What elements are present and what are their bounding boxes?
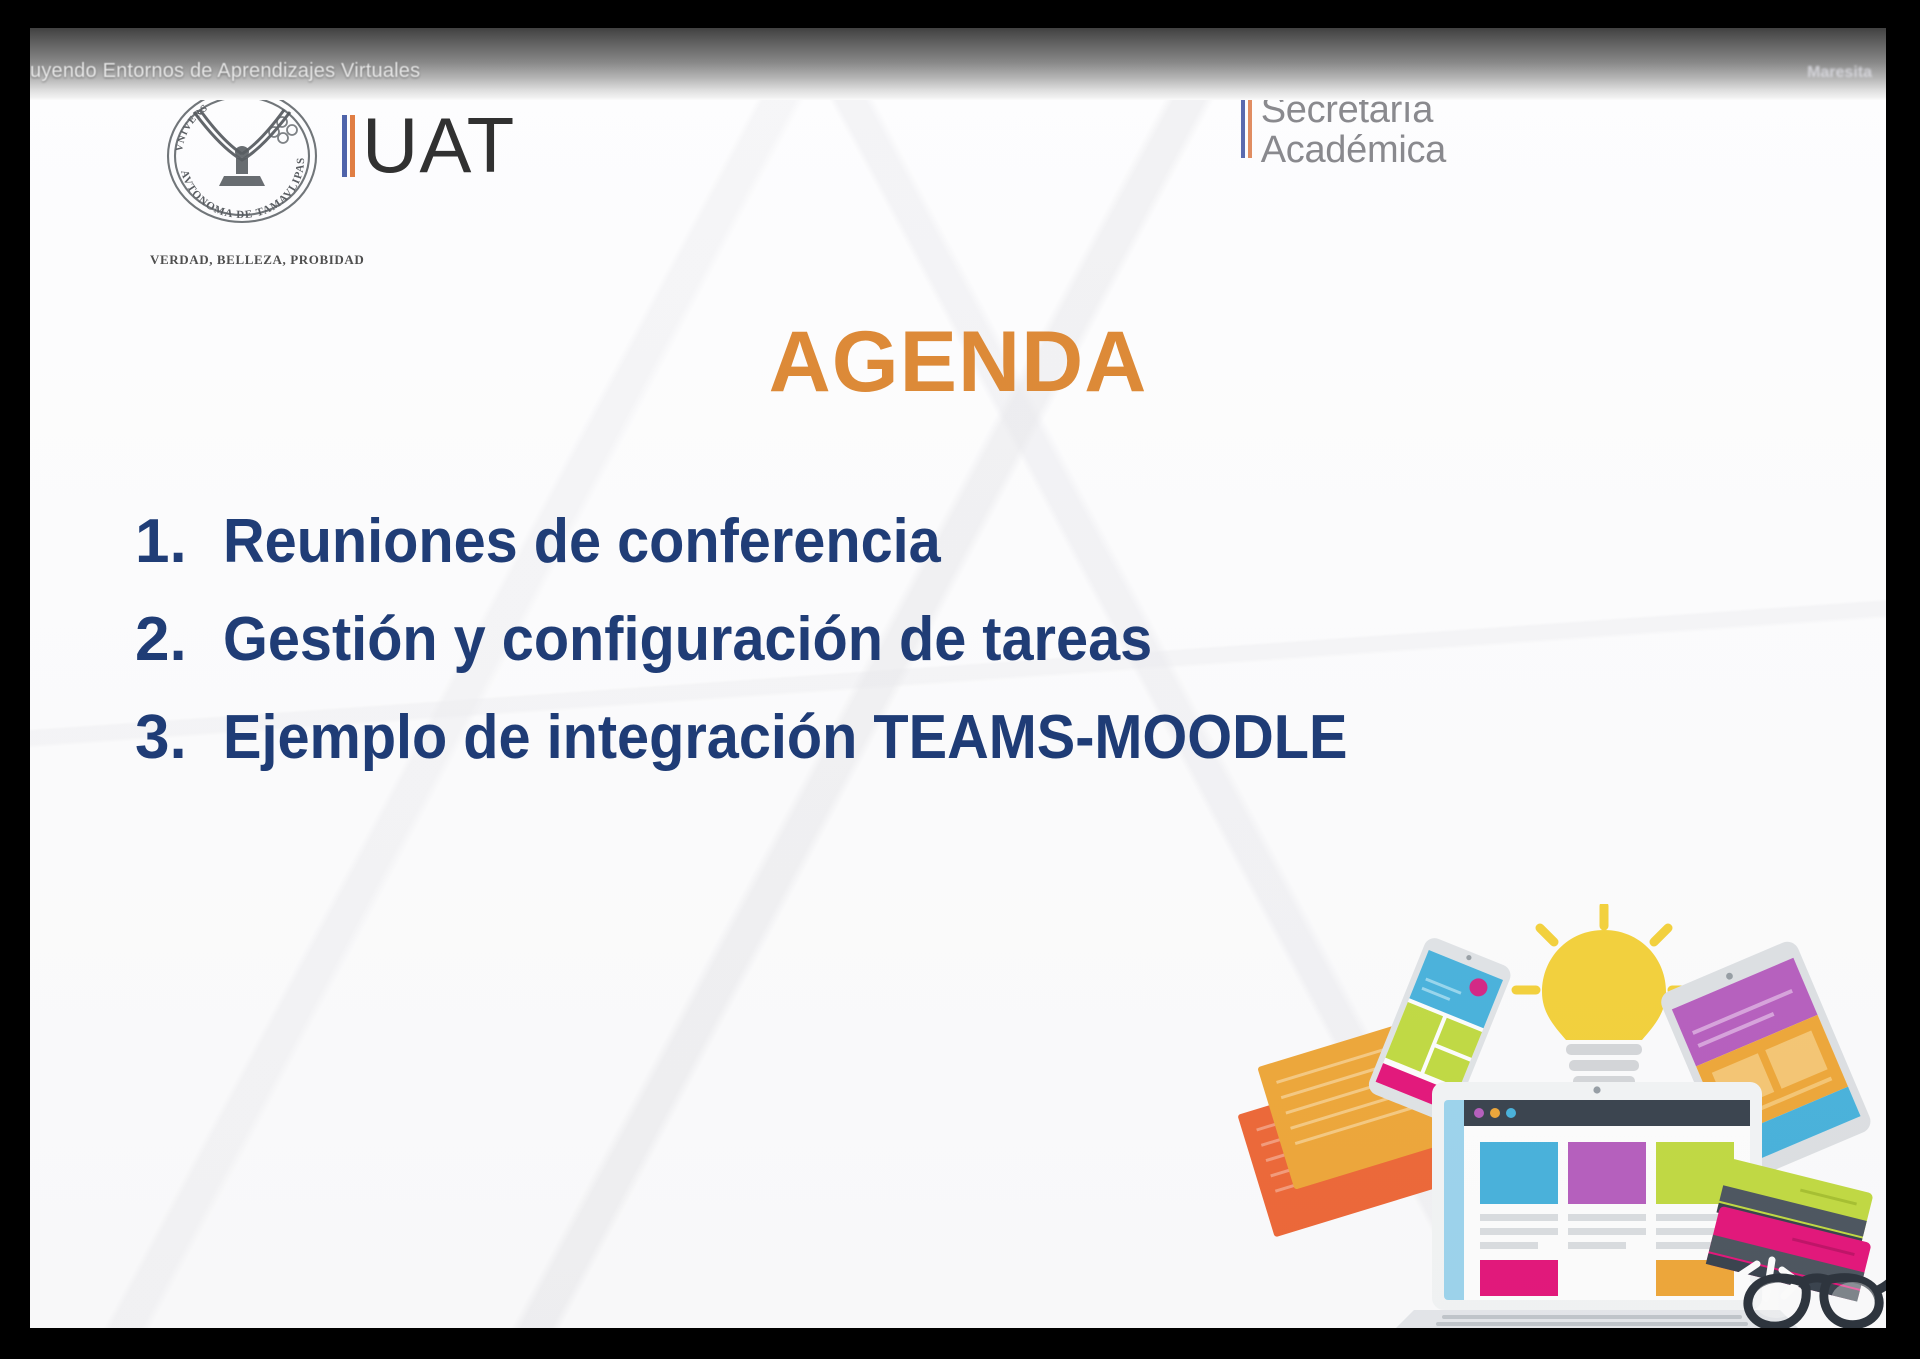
video-player-frame[interactable]: AVTONOMA DE TAMAVLIPAS VNIVERSIDAD VERDA… xyxy=(30,28,1886,1328)
elearning-devices-illustration xyxy=(1236,904,1886,1328)
banner-presenter-label: Maresita xyxy=(1807,64,1872,82)
secretary-academic-logo: Secretaría Académica xyxy=(1241,90,1446,171)
secretary-logo-text: Secretaría Académica xyxy=(1261,90,1446,171)
screenshot-stage: AVTONOMA DE TAMAVLIPAS VNIVERSIDAD VERDA… xyxy=(0,0,1920,1359)
agenda-item-2-label: Gestión y configuración de tareas xyxy=(223,604,1152,675)
agenda-item-1-label: Reuniones de conferencia xyxy=(223,506,941,577)
agenda-item-3-label: Ejemplo de integración TEAMS-MOODLE xyxy=(223,702,1347,773)
presentation-slide: AVTONOMA DE TAMAVLIPAS VNIVERSIDAD VERDA… xyxy=(30,28,1886,1328)
secretary-line-2: Académica xyxy=(1261,129,1446,171)
secretary-accent-bars xyxy=(1241,90,1252,158)
agenda-item-3-number: 3. xyxy=(135,702,197,773)
agenda-item-3: 3. Ejemplo de integración TEAMS-MOODLE xyxy=(135,702,1635,800)
agenda-list: 1. Reuniones de conferencia 2. Gestión y… xyxy=(135,506,1635,800)
secretary-bar-orange xyxy=(1248,90,1252,158)
video-title-banner: uyendo Entornos de Aprendizajes Virtuale… xyxy=(30,28,1886,100)
agenda-item-1-number: 1. xyxy=(135,506,197,577)
slide-title: AGENDA xyxy=(30,313,1886,412)
uat-bar-orange xyxy=(350,115,355,177)
uat-wordmark: UAT xyxy=(342,114,515,178)
uat-accent-bars xyxy=(342,115,355,177)
agenda-item-2-number: 2. xyxy=(135,604,197,675)
uat-wordmark-text: UAT xyxy=(362,114,515,178)
agenda-item-1: 1. Reuniones de conferencia xyxy=(135,506,1635,604)
university-logo: AVTONOMA DE TAMAVLIPAS VNIVERSIDAD VERDA… xyxy=(150,86,580,266)
uat-seal-icon: AVTONOMA DE TAMAVLIPAS VNIVERSIDAD xyxy=(150,86,335,226)
banner-title-text: uyendo Entornos de Aprendizajes Virtuale… xyxy=(30,60,420,83)
uat-bar-blue xyxy=(342,115,347,177)
university-motto: VERDAD, BELLEZA, PROBIDAD xyxy=(150,252,350,268)
agenda-item-2: 2. Gestión y configuración de tareas xyxy=(135,604,1635,702)
secretary-bar-blue xyxy=(1241,90,1245,158)
